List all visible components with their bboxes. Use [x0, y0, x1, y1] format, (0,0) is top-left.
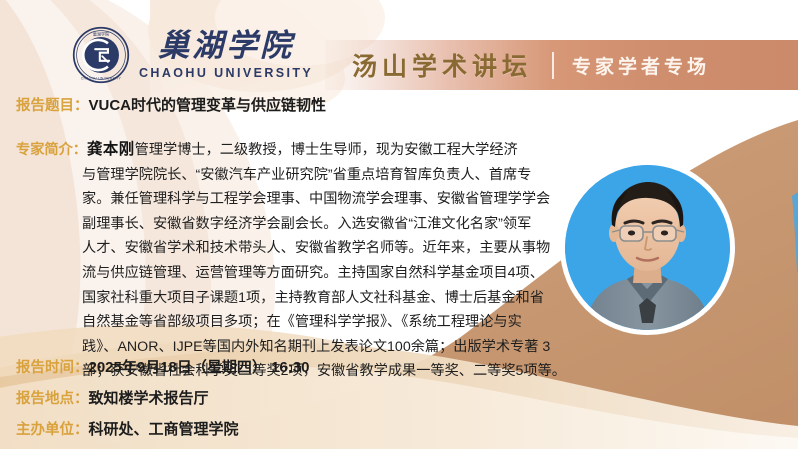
bio-line: 践》、ANOR、IJPE等国内外知名期刊上发表论文100余篇；出版学术专著 3: [16, 335, 556, 360]
bio-line: 家。兼任管理科学与工程学会理事、中国物流学会理事、安徽省管理学学会: [16, 187, 556, 212]
bio-line: 自然基金等省部级项目多项；在《管理科学学报》、《系统工程理论与实: [16, 310, 556, 335]
organizer-row: 主办单位：科研处、工商管理学院: [16, 421, 239, 439]
speaker-name: 龚本刚: [87, 141, 135, 158]
report-time-label: 报告时间：: [16, 360, 89, 376]
report-time-value: 2025年9月18日（星期四） 16:30: [89, 359, 310, 376]
report-time-row: 报告时间：2025年9月18日（星期四） 16:30: [16, 359, 309, 377]
seminar-poster: 巢湖学院 CHAOHU UNIVERSITY 巢湖学院 CHAOHU UNIVE…: [0, 0, 798, 449]
speaker-bio: 专家简介：龚本刚管理学博士，二级教授，博士生导师，现为安徽工程大学经济 与管理学…: [16, 138, 556, 384]
organizer-value: 科研处、工商管理学院: [89, 421, 239, 438]
speaker-portrait-icon: [565, 165, 730, 330]
report-place-row: 报告地点：致知楼学术报告厅: [16, 390, 209, 408]
bio-line: 副理事长、安徽省数字经济学会副会长。入选安徽省“江淮文化名家”领军: [16, 212, 556, 237]
report-title-row: 报告题目：VUCA时代的管理变革与供应链韧性: [16, 97, 326, 115]
bio-line: 专家简介：龚本刚管理学博士，二级教授，博士生导师，现为安徽工程大学经济: [16, 138, 556, 163]
bio-line: 人才、安徽省学术和技术带头人、安徽省教学名师等。近年来，主要从事物: [16, 236, 556, 261]
speaker-portrait: [565, 165, 730, 330]
bio-line-text: 管理学博士，二级教授，博士生导师，现为安徽工程大学经济: [135, 142, 518, 158]
bio-line: 流与供应链管理、运营管理等方面研究。主持国家自然科学基金项目4项、: [16, 261, 556, 286]
bio-line: 与管理学院院长、“安徽汽车产业研究院”省重点培育智库负责人、首席专: [16, 163, 556, 188]
organizer-label: 主办单位：: [16, 422, 89, 438]
bio-label: 专家简介：: [16, 142, 87, 158]
report-title-value: VUCA时代的管理变革与供应链韧性: [89, 97, 327, 114]
report-place-label: 报告地点：: [16, 391, 89, 407]
bio-line: 国家社科重大项目子课题1项，主持教育部人文社科基金、博士后基金和省: [16, 286, 556, 311]
report-title-label: 报告题目：: [16, 98, 89, 114]
report-place-value: 致知楼学术报告厅: [89, 390, 209, 407]
